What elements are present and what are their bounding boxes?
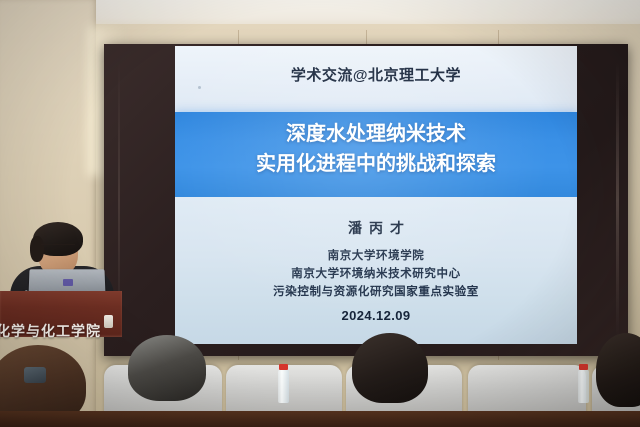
slide-title-line-1: 深度水处理纳米技术	[175, 120, 577, 150]
podium-banner-text: 化学与化工学院	[0, 321, 122, 341]
slide-affiliations: 南京大学环境学院 南京大学环境纳米技术研究中心 污染控制与资源化研究国家重点实验…	[175, 248, 577, 301]
laptop-lid-badge	[63, 279, 73, 286]
affiliation-line: 南京大学环境纳米技术研究中心	[175, 266, 577, 284]
slide-title: 深度水处理纳米技术 实用化进程中的挑战和探索	[175, 120, 577, 179]
front-table-edge	[0, 411, 640, 427]
affiliation-line: 污染控制与资源化研究国家重点实验室	[175, 284, 577, 302]
water-bottle	[578, 369, 589, 403]
audience-row	[0, 365, 640, 427]
slide-speaker-name: 潘丙才	[175, 218, 577, 238]
slide-date: 2024.12.09	[175, 308, 577, 323]
slide-title-line-2: 实用化进程中的挑战和探索	[175, 150, 577, 180]
affiliation-line: 南京大学环境学院	[175, 248, 577, 266]
projection-screen-frame: 学术交流@北京理工大学 深度水处理纳米技术 实用化进程中的挑战和探索 潘丙才 南…	[104, 44, 628, 356]
audience-head	[128, 335, 206, 401]
slide-header-text: 学术交流@北京理工大学	[175, 64, 577, 85]
hair-clip	[24, 367, 46, 383]
water-bottle	[278, 369, 289, 403]
presenter-glasses	[41, 244, 75, 253]
presentation-slide: 学术交流@北京理工大学 深度水处理纳米技术 实用化进程中的挑战和探索 潘丙才 南…	[175, 46, 577, 344]
slide-dust-speck	[198, 86, 201, 89]
frame-highlight	[616, 62, 619, 338]
audience-head	[352, 333, 428, 403]
lecture-hall-photo: 学术交流@北京理工大学 深度水处理纳米技术 实用化进程中的挑战和探索 潘丙才 南…	[0, 0, 640, 427]
